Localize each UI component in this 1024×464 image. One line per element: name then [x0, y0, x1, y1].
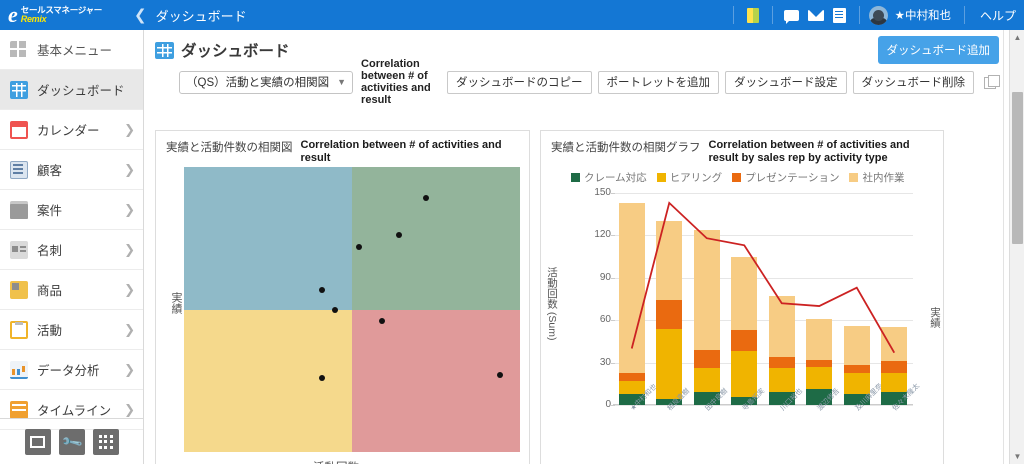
- portlet-container: 実績と活動件数の相関図 Correlation between # of act…: [155, 130, 999, 464]
- note-icon[interactable]: [828, 0, 852, 30]
- product-icon: [10, 281, 28, 299]
- quadrant-top-right: [352, 167, 520, 310]
- scatter-point[interactable]: [319, 375, 325, 381]
- quadrant-bottom-right: [352, 310, 520, 453]
- grid-icon: [10, 41, 28, 59]
- divider: [859, 6, 860, 24]
- caret-down-icon[interactable]: ▼: [1010, 449, 1024, 464]
- chevron-right-icon: ❯: [124, 322, 135, 338]
- mail-icon[interactable]: [804, 0, 828, 30]
- scatter-y-axis-label: 実績: [168, 292, 184, 314]
- business-card-icon: [10, 241, 28, 259]
- dashboard-toolbar: （QS）活動と実績の相関図 ▼ Correlation between # of…: [145, 66, 1009, 98]
- scatter-x-axis-label: 活動回数: [168, 459, 504, 464]
- portlet-scatter: 実績と活動件数の相関図 Correlation between # of act…: [155, 130, 530, 464]
- timeline-icon: [10, 401, 28, 419]
- sidebar-item-label: 商品: [37, 280, 62, 299]
- toolbar-buttons: ダッシュボードのコピー ポートレットを追加 ダッシュボード設定 ダッシュボード削…: [447, 71, 999, 94]
- wrench-icon[interactable]: 🔧: [59, 429, 85, 455]
- portlet-scatter-header: 実績と活動件数の相関図 Correlation between # of act…: [156, 131, 529, 167]
- page-header: ダッシュボード ダッシュボード追加: [145, 30, 1009, 66]
- portlet-title-ja: 実績と活動件数の相関グラフ: [551, 139, 701, 155]
- chevron-right-icon: ❯: [124, 402, 135, 418]
- bar-y-axis-label-right: 実績: [928, 307, 943, 328]
- bar-analysis-icon: [10, 361, 28, 379]
- sidebar-item-label: 活動: [37, 320, 62, 339]
- chevron-right-icon: ❯: [124, 162, 135, 178]
- chevron-right-icon: ❯: [124, 242, 135, 258]
- chevron-down-icon: ▼: [337, 77, 346, 87]
- legend-swatch-icon: [571, 173, 580, 182]
- bar-plot-area[interactable]: 0306090120150★中村和也相良直樹田中良樹寺島拓実川口裕也渡辺修吾及川…: [613, 193, 913, 405]
- sidebar-item-business-card[interactable]: 名刺 ❯: [0, 230, 143, 270]
- main-content: ダッシュボード ダッシュボード追加 （QS）活動と実績の相関図 ▼ Correl…: [145, 30, 1009, 464]
- caret-up-icon[interactable]: ▲: [1010, 30, 1024, 45]
- copy-dashboard-button[interactable]: ダッシュボードのコピー: [447, 71, 592, 94]
- case-folder-icon: [10, 201, 28, 219]
- chevron-right-icon: ❯: [124, 202, 135, 218]
- legend-swatch-icon: [732, 173, 741, 182]
- portlet-bar: 実績と活動件数の相関グラフ Correlation between # of a…: [540, 130, 944, 464]
- legend-item[interactable]: 社内作業: [849, 170, 904, 185]
- window-icon[interactable]: [25, 429, 51, 455]
- sidebar-item-label: 顧客: [37, 160, 62, 179]
- portlet-bar-header: 実績と活動件数の相関グラフ Correlation between # of a…: [541, 131, 943, 167]
- portlet-title-en: Correlation between # of activities and …: [709, 139, 934, 165]
- logo-sub-text: Remix: [21, 15, 102, 24]
- y-axis-tick-label: 0: [571, 399, 611, 410]
- quadrant-top-left: [184, 167, 352, 310]
- legend-item[interactable]: プレゼンテーション: [732, 170, 839, 185]
- breadcrumb: ダッシュボード: [156, 6, 247, 25]
- dashboard-select-value: （QS）活動と実績の相関図: [186, 74, 329, 90]
- y-axis-tick-label: 60: [571, 314, 611, 325]
- sidebar-item-label: 案件: [37, 200, 62, 219]
- page-scrollbar[interactable]: ▲ ▼: [1009, 30, 1024, 464]
- logo-e-mark: e: [8, 5, 18, 25]
- divider: [964, 6, 965, 24]
- legend-item[interactable]: ヒアリング: [657, 170, 723, 185]
- sidebar-item-label: 名刺: [37, 240, 62, 259]
- app-logo[interactable]: e セールスマネージャー Remix: [0, 0, 130, 30]
- legend-item[interactable]: クレーム対応: [571, 170, 647, 185]
- dashboard-select[interactable]: （QS）活動と実績の相関図 ▼: [179, 71, 353, 94]
- portlet-title-ja: 実績と活動件数の相関図: [166, 139, 293, 155]
- sidebar-item-activity[interactable]: 活動 ❯: [0, 310, 143, 350]
- legend-label: ヒアリング: [670, 170, 723, 185]
- activity-clipboard-icon: [10, 321, 28, 339]
- divider: [772, 6, 773, 24]
- sidebar-bottom-toolbar: 🔧: [0, 418, 143, 464]
- sidebar-item-case[interactable]: 案件 ❯: [0, 190, 143, 230]
- chat-icon[interactable]: [780, 0, 804, 30]
- scatter-plot-area[interactable]: [184, 167, 520, 452]
- scrollbar-thumb[interactable]: [1012, 92, 1023, 244]
- user-name-label[interactable]: ★中村和也: [891, 7, 957, 23]
- top-header-bar: e セールスマネージャー Remix ❮ ダッシュボード ★中村和也 ヘルプ: [0, 0, 1024, 30]
- sidebar-item-dashboard[interactable]: ダッシュボード: [0, 70, 143, 110]
- y-axis-tick-label: 30: [571, 357, 611, 368]
- bar-y-axis-label: 活動回数 (Sum): [545, 267, 560, 341]
- avatar[interactable]: [867, 0, 891, 30]
- book-icon[interactable]: [741, 0, 765, 30]
- scatter-point[interactable]: [356, 244, 362, 250]
- page-title: ダッシュボード: [181, 39, 290, 61]
- y-axis-tick: [611, 405, 615, 406]
- legend-label: プレゼンテーション: [745, 170, 839, 185]
- help-link[interactable]: ヘルプ: [972, 7, 1024, 24]
- dashboard-subtitle-en: Correlation between # of activities and …: [361, 58, 447, 106]
- sidebar-item-label: 基本メニュー: [37, 40, 112, 59]
- delete-dashboard-button[interactable]: ダッシュボード削除: [853, 71, 975, 94]
- y-axis-tick-label: 150: [571, 187, 611, 198]
- sidebar-item-customer[interactable]: 顧客 ❯: [0, 150, 143, 190]
- legend-swatch-icon: [849, 173, 858, 182]
- result-line-series: [613, 193, 913, 405]
- duplicate-window-icon[interactable]: [984, 75, 999, 90]
- sidebar-item-label: カレンダー: [37, 120, 100, 139]
- quadrant-bottom-left: [184, 310, 352, 453]
- sidebar-item-basic-menu[interactable]: 基本メニュー: [0, 30, 143, 70]
- chevron-right-icon: ❯: [124, 282, 135, 298]
- scatter-point[interactable]: [332, 307, 338, 313]
- customer-icon: [10, 161, 28, 179]
- bar-chart: 活動回数 (Sum) 実績 0306090120150★中村和也相良直樹田中良樹…: [541, 187, 945, 464]
- sidebar-item-calendar[interactable]: カレンダー ❯: [0, 110, 143, 150]
- sidebar-item-label: ダッシュボード: [37, 80, 125, 99]
- legend-swatch-icon: [657, 173, 666, 182]
- apps-grid-icon[interactable]: [93, 429, 119, 455]
- bar-chart-legend: クレーム対応ヒアリングプレゼンテーション社内作業: [541, 167, 943, 185]
- sidebar-item-label: データ分析: [37, 360, 100, 379]
- sidebar: 基本メニュー ダッシュボード カレンダー ❯ 顧客 ❯ 案件 ❯ 名刺 ❯: [0, 30, 144, 464]
- scatter-point[interactable]: [497, 372, 503, 378]
- app-root: e セールスマネージャー Remix ❮ ダッシュボード ★中村和也 ヘルプ 基…: [0, 0, 1024, 464]
- portlet-title-en: Correlation between # of activities and …: [301, 139, 520, 165]
- divider: [1003, 30, 1004, 464]
- divider: [733, 6, 734, 24]
- add-portlet-button[interactable]: ポートレットを追加: [598, 71, 720, 94]
- legend-label: 社内作業: [862, 170, 904, 185]
- chevron-right-icon: ❯: [124, 362, 135, 378]
- calendar-icon: [10, 121, 28, 139]
- y-axis-tick-label: 120: [571, 229, 611, 240]
- sidebar-item-data-analysis[interactable]: データ分析 ❯: [0, 350, 143, 390]
- legend-label: クレーム対応: [584, 170, 647, 185]
- sidebar-item-label: タイムライン: [37, 400, 111, 419]
- header-actions: ★中村和也 ヘルプ: [726, 0, 1024, 30]
- y-axis-tick-label: 90: [571, 272, 611, 283]
- add-dashboard-button[interactable]: ダッシュボード追加: [878, 36, 1000, 64]
- sidebar-item-product[interactable]: 商品 ❯: [0, 270, 143, 310]
- chevron-right-icon: ❯: [124, 122, 135, 138]
- scatter-point[interactable]: [319, 287, 325, 293]
- dashboard-settings-button[interactable]: ダッシュボード設定: [725, 71, 847, 94]
- dashboard-icon: [10, 81, 28, 99]
- scatter-chart: 実績 活動回数: [168, 167, 520, 464]
- dashboard-icon: [155, 42, 174, 59]
- chevron-left-icon[interactable]: ❮: [130, 6, 156, 24]
